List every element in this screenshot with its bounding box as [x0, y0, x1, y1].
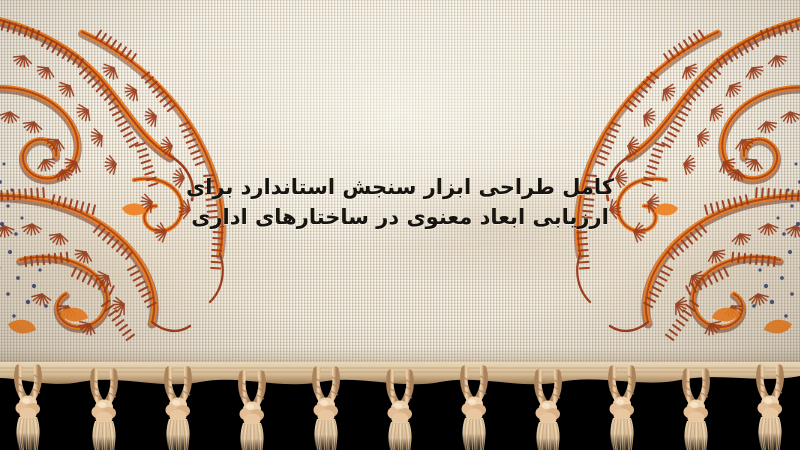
tassel-fringe [0, 362, 800, 450]
tassel [757, 368, 783, 450]
tassel [91, 372, 117, 450]
tassel [683, 372, 709, 450]
tassel [609, 369, 635, 450]
caption-block: کامل طراحی ابزار سنجش استاندارد برای ارز… [0, 172, 800, 232]
tassel [461, 369, 487, 450]
title-card-stage: کامل طراحی ابزار سنجش استاندارد برای ارز… [0, 0, 800, 450]
tassel [535, 373, 561, 450]
tassel [387, 373, 413, 450]
fringe-hem [0, 362, 800, 384]
tassel [313, 370, 339, 450]
caption-line-1: کامل طراحی ابزار سنجش استاندارد برای [0, 172, 800, 202]
tassel [239, 374, 265, 450]
caption-line-2: ارزیابی ابعاد معنوی در ساختارهای اداری [0, 202, 800, 232]
